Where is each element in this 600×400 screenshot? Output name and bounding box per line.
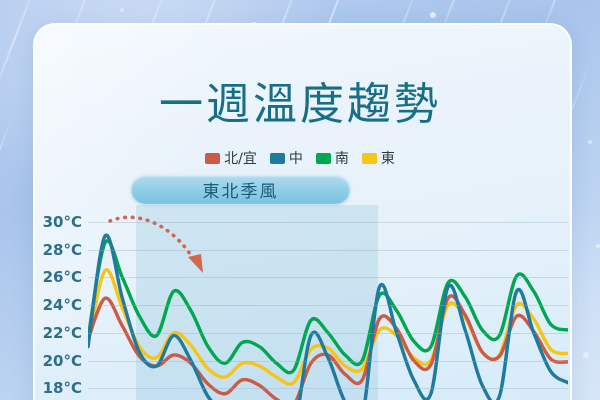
chart-legend: 北/宜中南東: [0, 148, 600, 168]
snow-dot: [588, 140, 592, 144]
legend-label: 東: [381, 148, 395, 168]
legend-swatch-icon: [205, 153, 220, 164]
legend-label: 南: [335, 148, 349, 168]
y-axis-tick-label: 20°C: [43, 352, 82, 370]
gridline: [88, 361, 568, 362]
temperature-chart: 30°C28°C26°C24°C22°C20°C18°C: [0, 205, 600, 400]
plot-area: [88, 205, 568, 400]
legend-item-east[interactable]: 東: [362, 148, 395, 168]
legend-swatch-icon: [270, 153, 285, 164]
y-axis-tick-label: 26°C: [43, 268, 82, 286]
y-axis: 30°C28°C26°C24°C22°C20°C18°C: [0, 205, 90, 400]
snow-dot: [120, 8, 124, 12]
screenshot-root: 一週溫度趨勢 北/宜中南東 東北季風 30°C28°C26°C24°C22°C2…: [0, 0, 600, 400]
page-title: 一週溫度趨勢: [0, 68, 600, 132]
arrow-head: [188, 254, 203, 273]
legend-item-north_yilan[interactable]: 北/宜: [205, 148, 257, 168]
gridline: [88, 388, 568, 389]
gridline: [88, 222, 568, 223]
y-axis-tick-label: 28°C: [43, 241, 82, 259]
legend-item-south[interactable]: 南: [316, 148, 349, 168]
legend-swatch-icon: [362, 153, 377, 164]
cooling-trend-arrow-icon: [88, 205, 568, 400]
y-axis-tick-label: 24°C: [43, 296, 82, 314]
gridline: [88, 250, 568, 251]
y-axis-tick-label: 18°C: [43, 379, 82, 397]
monsoon-pill-button[interactable]: 東北季風: [131, 175, 350, 204]
gridline: [88, 305, 568, 306]
snow-dot: [430, 12, 436, 18]
y-axis-tick-label: 22°C: [43, 324, 82, 342]
legend-label: 中: [289, 148, 303, 168]
legend-label: 北/宜: [224, 148, 257, 168]
gridline: [88, 277, 568, 278]
gridline: [88, 333, 568, 334]
arrow-curve: [110, 217, 194, 260]
legend-item-central[interactable]: 中: [270, 148, 303, 168]
legend-swatch-icon: [316, 153, 331, 164]
monsoon-pill-label: 東北季風: [203, 177, 279, 202]
y-axis-tick-label: 30°C: [43, 213, 82, 231]
